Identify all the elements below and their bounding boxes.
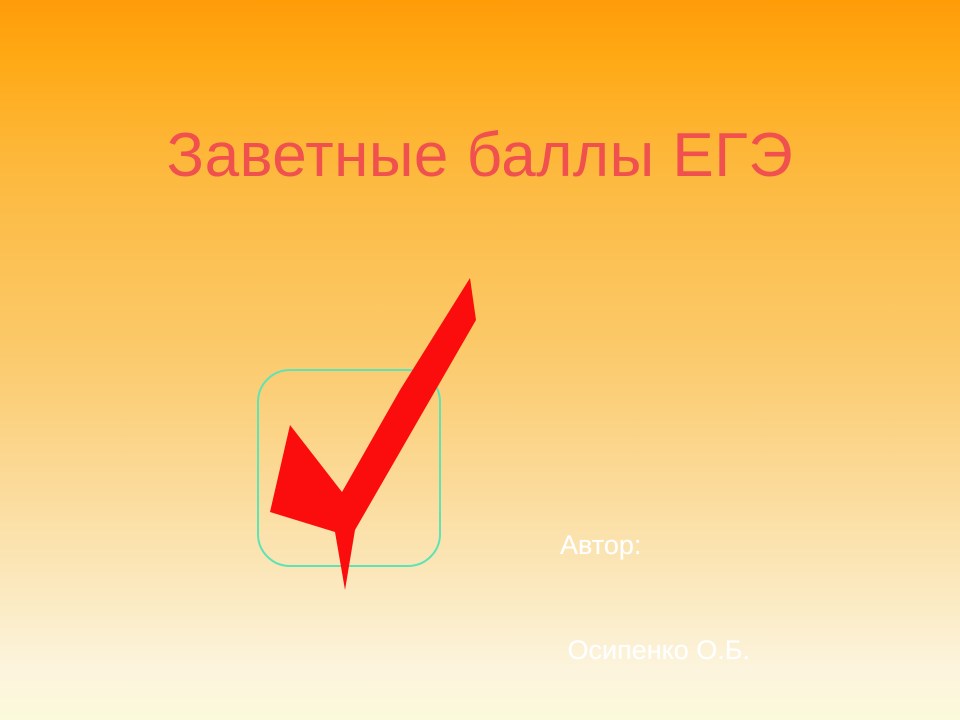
check-mark-icon — [270, 278, 476, 590]
checkmark-illustration — [240, 260, 500, 610]
slide-title: Заветные баллы ЕГЭ — [0, 118, 960, 194]
author-line-role: Автор: — [560, 528, 950, 563]
author-line-name: Осипенко О.Б. — [560, 633, 950, 668]
checkmark-svg — [240, 260, 500, 610]
presentation-slide: Заветные баллы ЕГЭ Автор: Осипенко О.Б. … — [0, 0, 960, 720]
author-credits: Автор: Осипенко О.Б. ЧОУ «Гимназия №1» Г… — [560, 458, 950, 720]
